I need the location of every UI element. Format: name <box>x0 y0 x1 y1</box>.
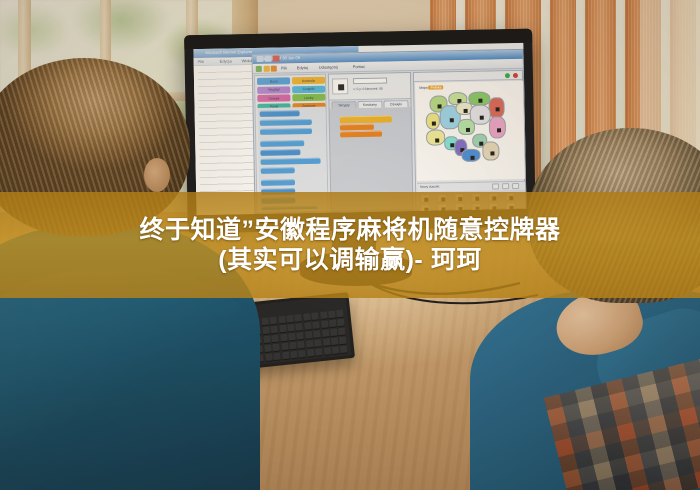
overlay-line-1: 终于知道”安徽程序麻将机随意控牌器 <box>139 215 560 246</box>
photo-canvas: AOC Microsoft Internet Explorer PlikEdyc… <box>0 0 700 490</box>
text-overlay-band: 终于知道”安徽程序麻将机随意控牌器 (其实可以调输赢)- 珂珂 <box>0 192 700 298</box>
overlay-line-2: (其实可以调输赢)- 珂珂 <box>218 245 481 276</box>
